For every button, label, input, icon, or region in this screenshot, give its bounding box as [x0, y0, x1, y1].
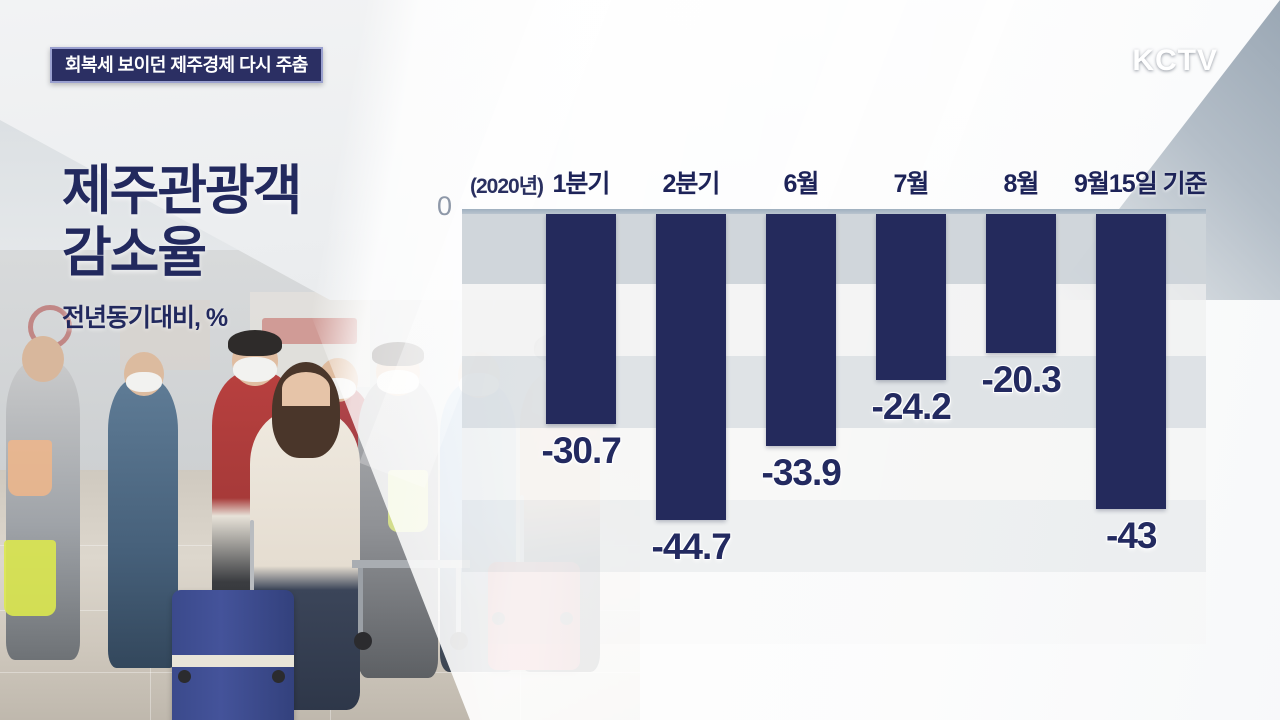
chart-grid-band	[462, 500, 1206, 572]
luggage-cart-leg	[358, 568, 363, 634]
broadcast-graphic-stage: 회복세 보이던 제주경제 다시 주춤 KCTV 제주관광객 감소율 전년동기대비…	[0, 0, 1280, 720]
chart-value-label: -33.9	[762, 454, 841, 491]
page-subtitle: 전년동기대비, %	[62, 298, 300, 334]
suitcase-handle	[250, 520, 254, 592]
chart-zero-axis-line	[462, 209, 1206, 214]
shopping-bag	[8, 440, 52, 496]
chart-bar	[876, 214, 946, 380]
chart-year-note: (2020년)	[470, 176, 543, 197]
traveler-figure	[108, 378, 178, 668]
news-headline-text: 회복세 보이던 제주경제 다시 주춤	[65, 56, 308, 74]
foreground-traveler-face	[282, 372, 330, 406]
chart-category-label: 9월15일 기준	[1074, 172, 1207, 197]
face-mask	[126, 372, 162, 392]
chart-bar	[546, 214, 616, 424]
kctv-logo: KCTV	[1132, 44, 1218, 78]
suitcase-wheel	[272, 670, 285, 683]
chart-value-label: -43	[1106, 517, 1156, 554]
chart-bar	[766, 214, 836, 446]
page-title-line2: 감소율	[62, 222, 300, 284]
chart-category-label: 2분기	[663, 172, 720, 197]
chart-value-label: -30.7	[542, 432, 621, 469]
chart-bar	[656, 214, 726, 520]
chart-category-label: 8월	[1004, 172, 1039, 197]
traveler-head	[22, 336, 64, 382]
chart-category-label: 7월	[894, 172, 929, 197]
suitcase-strap	[172, 655, 294, 667]
suitcase-wheel	[178, 670, 191, 683]
cart-wheel	[354, 632, 372, 650]
shopping-bag	[4, 540, 56, 616]
chart-value-label: -24.2	[872, 388, 951, 425]
chart-category-label: 6월	[784, 172, 819, 197]
chart-bar	[1096, 214, 1166, 509]
graphic-title-block: 제주관광객 감소율 전년동기대비, %	[62, 160, 300, 334]
news-headline-banner: 회복세 보이던 제주경제 다시 주춤	[50, 47, 323, 83]
chart-bar	[986, 214, 1056, 353]
chart-zero-axis-label: 0	[437, 193, 452, 220]
chart-category-label: 1분기	[553, 172, 610, 197]
chart-value-label: -20.3	[982, 361, 1061, 398]
chart-grid-band	[462, 572, 1206, 644]
page-title-line1: 제주관광객	[62, 160, 300, 222]
chart-value-label: -44.7	[652, 528, 731, 565]
face-mask	[233, 357, 277, 382]
